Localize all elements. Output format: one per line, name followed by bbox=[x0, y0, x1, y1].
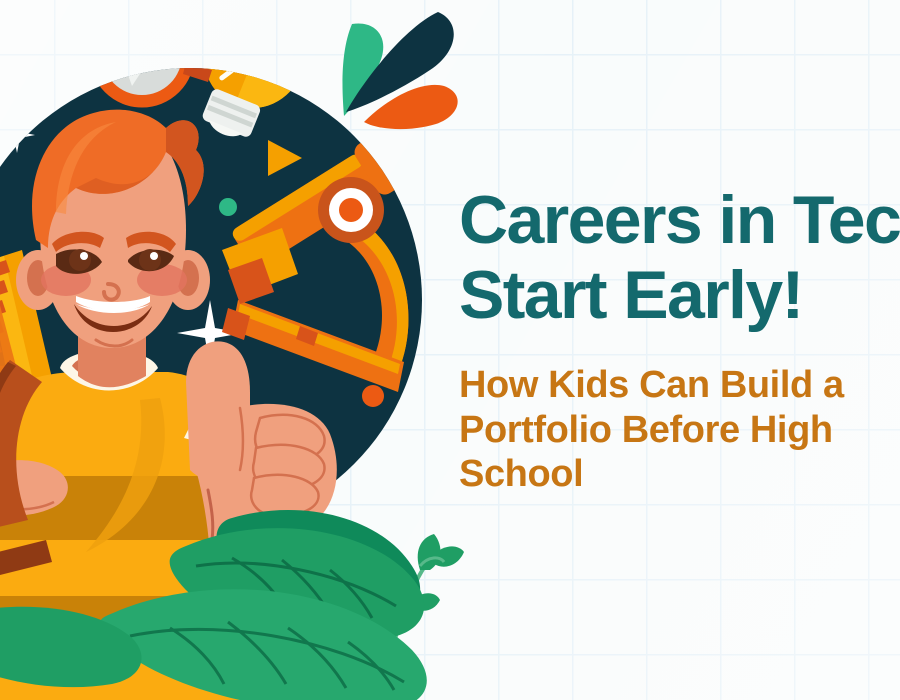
text-block: Careers in Tech: Start Early! How Kids C… bbox=[459, 186, 900, 497]
dot-orange bbox=[362, 385, 384, 407]
subheadline: How Kids Can Build a Portfolio Before Hi… bbox=[459, 363, 900, 497]
dot-green bbox=[219, 198, 237, 216]
dot-white bbox=[169, 44, 181, 56]
hero-illustration bbox=[0, 0, 470, 700]
headline-line-2: Start Early! bbox=[459, 261, 900, 330]
eyeglasses-icon bbox=[0, 0, 212, 101]
headline-line-1: Careers in Tech: bbox=[459, 182, 900, 258]
headline: Careers in Tech: Start Early! bbox=[459, 186, 900, 331]
banner-canvas: Careers in Tech: Start Early! How Kids C… bbox=[0, 0, 900, 700]
paint-splash-group bbox=[342, 12, 457, 129]
